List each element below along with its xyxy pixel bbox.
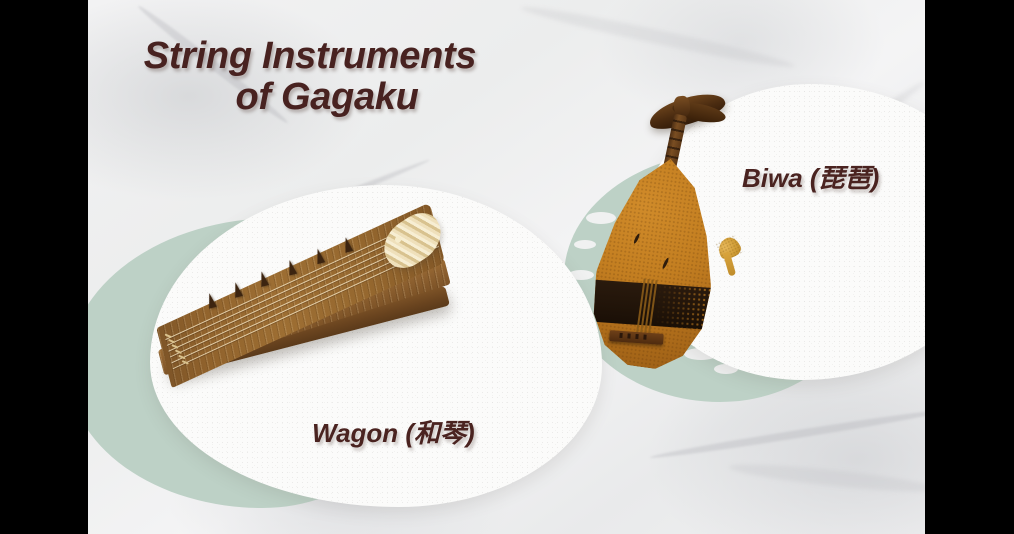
marble-vein	[520, 1, 797, 73]
bachi-plectrum[interactable]	[718, 238, 740, 278]
slide-canvas: String Instruments of Gagaku Wagon (和琴) …	[0, 0, 1014, 534]
letterbox-bar-left	[0, 0, 88, 534]
page-title: String Instruments of Gagaku	[110, 36, 510, 118]
wagon-caption: Wagon (和琴)	[312, 413, 475, 450]
title-line-1: String Instruments	[144, 35, 476, 77]
biwa-instrument[interactable]	[596, 96, 766, 376]
biwa-halftone	[655, 284, 718, 330]
biwa-soundboard	[584, 151, 728, 375]
marble-vein	[649, 407, 925, 462]
letterbox-bar-right	[925, 0, 1014, 534]
wagon-instrument[interactable]	[168, 278, 478, 426]
biwa-caption: Biwa (琵琶)	[742, 158, 879, 195]
title-line-2: of Gagaku	[144, 77, 510, 118]
marble-vein	[728, 459, 925, 497]
